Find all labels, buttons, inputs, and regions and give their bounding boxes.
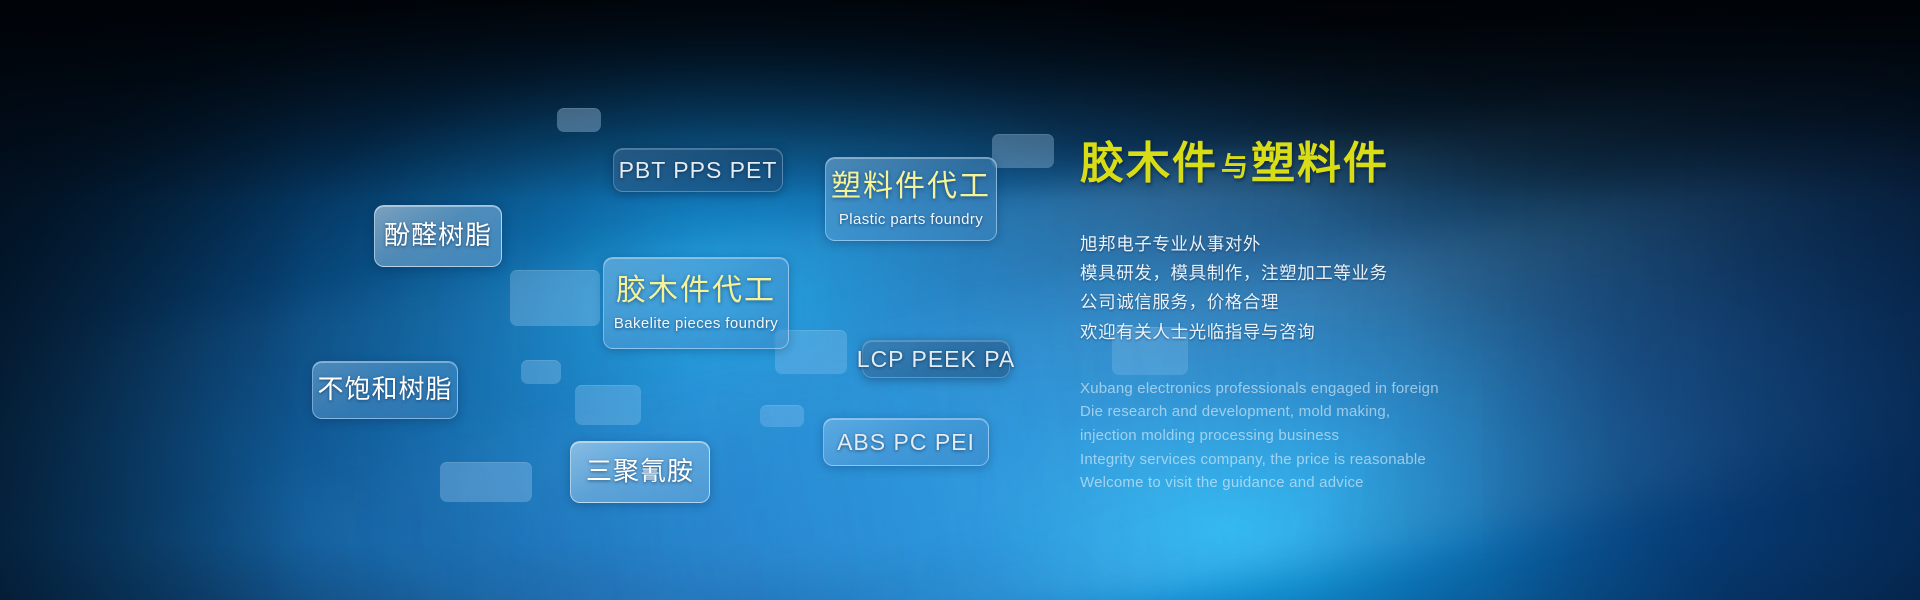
chinese-line: 公司诚信服务，价格合理	[1080, 288, 1500, 317]
english-line: Integrity services company, the price is…	[1080, 448, 1500, 472]
headline-part2: 塑料件	[1251, 139, 1389, 188]
chinese-line: 旭邦电子专业从事对外	[1080, 230, 1500, 259]
chinese-line: 模具研发，模具制作，注塑加工等业务	[1080, 259, 1500, 288]
code-chip-pbt-pps-pet[interactable]: PBT PPS PET	[613, 148, 783, 192]
feature-chip-plastic-parts-foundry[interactable]: 塑料件代工Plastic parts foundry	[825, 157, 997, 241]
material-chip-melamine[interactable]: 三聚氰胺	[570, 441, 710, 503]
code-chip-label: PBT PPS PET	[619, 157, 778, 184]
feature-chip-subtitle: Plastic parts foundry	[839, 211, 983, 228]
feature-chip-title: 胶木件代工	[616, 274, 776, 309]
english-line: Xubang electronics professionals engaged…	[1080, 377, 1500, 401]
material-chip-label: 不饱和树脂	[317, 375, 452, 405]
code-chip-label: ABS PC PEI	[837, 429, 975, 456]
english-description: Xubang electronics professionals engaged…	[1080, 377, 1500, 495]
code-chip-abs-pc-pei[interactable]: ABS PC PEI	[823, 418, 989, 466]
material-chip-label: 三聚氰胺	[586, 457, 694, 487]
headline-part1: 胶木件	[1080, 139, 1218, 188]
feature-chip-subtitle: Bakelite pieces foundry	[614, 315, 778, 332]
chinese-description: 旭邦电子专业从事对外模具研发，模具制作，注塑加工等业务公司诚信服务，价格合理欢迎…	[1080, 230, 1500, 346]
code-chip-label: LCP PEEK PA	[857, 346, 1015, 373]
feature-chip-bakelite-pieces-foundry[interactable]: 胶木件代工Bakelite pieces foundry	[603, 257, 789, 349]
material-chip-label: 酚醛树脂	[384, 221, 492, 251]
copy-block: 胶木件与塑料件 旭邦电子专业从事对外模具研发，模具制作，注塑加工等业务公司诚信服…	[1080, 140, 1500, 495]
chinese-line: 欢迎有关人士光临指导与咨询	[1080, 318, 1500, 347]
english-line: injection molding processing business	[1080, 424, 1500, 448]
page-title: 胶木件与塑料件	[1080, 140, 1500, 188]
feature-chip-title: 塑料件代工	[831, 170, 991, 205]
material-chip-unsaturated-resin[interactable]: 不饱和树脂	[312, 361, 458, 419]
promo-banner: 塑料件代工Plastic parts foundry胶木件代工Bakelite …	[0, 0, 1920, 600]
english-line: Welcome to visit the guidance and advice	[1080, 471, 1500, 495]
material-chip-phenolic-resin[interactable]: 酚醛树脂	[374, 205, 502, 267]
code-chip-lcp-peek-pa[interactable]: LCP PEEK PA	[862, 340, 1010, 378]
english-line: Die research and development, mold makin…	[1080, 400, 1500, 424]
headline-conjunction: 与	[1218, 152, 1251, 182]
